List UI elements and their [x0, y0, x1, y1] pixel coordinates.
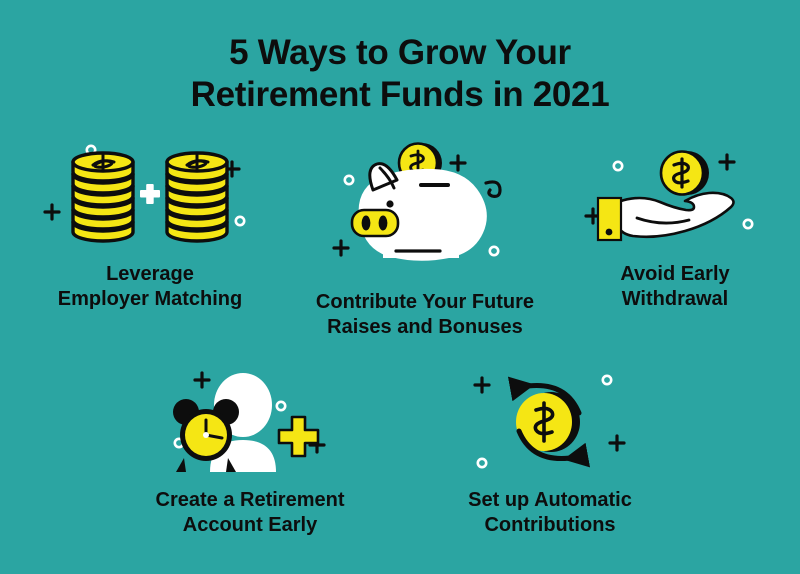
- coin-stack-right: [167, 153, 227, 241]
- open-hand-coin-svg: [580, 140, 770, 252]
- tip-card-employer-matching: Leverage Employer Matching: [16, 140, 284, 312]
- cuff-button: [606, 229, 613, 236]
- clock-center-pin: [203, 432, 209, 438]
- plus-sign-yellow: [279, 417, 318, 456]
- coin-stacks-plus-icon: [16, 140, 284, 252]
- piggy-eye: [386, 200, 393, 207]
- infographic-poster: 5 Ways to Grow Your Retirement Funds in …: [0, 0, 800, 574]
- person-clock-plus-icon: [100, 368, 400, 478]
- title-line-1: 5 Ways to Grow Your: [0, 32, 800, 74]
- snout: [352, 210, 398, 236]
- circle-mark-icon: [344, 176, 352, 184]
- page-title: 5 Ways to Grow Your Retirement Funds in …: [0, 32, 800, 116]
- recurring-coin-svg: [455, 368, 645, 478]
- circle-mark-icon: [603, 376, 611, 384]
- yellow-cuff: [598, 198, 621, 240]
- tip-label-automatic-contributions: Set up Automatic Contributions: [468, 488, 632, 538]
- plus-mark-icon: [610, 436, 624, 450]
- open-hand: [618, 193, 734, 237]
- title-line-2: Retirement Funds in 2021: [0, 74, 800, 116]
- person-clock-plus-svg: [150, 368, 350, 478]
- coin-stacks-svg: [35, 140, 265, 252]
- open-hand-coin-icon: [566, 140, 784, 252]
- tips-row-bottom: Create a Retirement Account Early: [0, 368, 800, 538]
- tips-row-top: Leverage Employer Matching: [0, 140, 800, 340]
- plus-mark-icon: [720, 155, 734, 169]
- piggy-bank-svg: [318, 138, 533, 280]
- tip-card-account-early: Create a Retirement Account Early: [100, 368, 400, 538]
- circle-mark-icon: [744, 220, 752, 228]
- plus-mark-icon: [475, 378, 489, 392]
- circle-mark-icon: [614, 162, 622, 170]
- piggy-bank-body: [352, 164, 500, 261]
- tip-label-raises-bonuses: Contribute Your Future Raises and Bonuse…: [316, 290, 534, 340]
- plus-mark-icon: [334, 241, 348, 255]
- tip-label-account-early: Create a Retirement Account Early: [156, 488, 345, 538]
- circle-mark-icon: [489, 247, 497, 255]
- plus-sign-white: [140, 184, 160, 204]
- nostril: [378, 216, 387, 231]
- plus-mark-icon: [451, 156, 465, 170]
- circle-mark-icon: [478, 459, 486, 467]
- tip-card-early-withdrawal: Avoid Early Withdrawal: [566, 140, 784, 312]
- curly-tail: [486, 182, 500, 196]
- circle-mark-icon: [236, 217, 244, 225]
- tip-label-early-withdrawal: Avoid Early Withdrawal: [620, 262, 729, 312]
- tip-label-employer-matching: Leverage Employer Matching: [58, 262, 242, 312]
- coin-above-palm: [661, 151, 709, 195]
- recurring-coin-icon: [400, 368, 700, 478]
- tip-card-automatic-contributions: Set up Automatic Contributions: [400, 368, 700, 538]
- circle-mark-icon: [277, 402, 285, 410]
- plus-mark-icon: [45, 205, 59, 219]
- tip-card-raises-bonuses: Contribute Your Future Raises and Bonuse…: [284, 140, 566, 340]
- clock-foot-left: [176, 458, 186, 472]
- piggy-bank-icon: [284, 140, 566, 280]
- coin-stack-left: [73, 153, 133, 241]
- plus-mark-icon: [195, 373, 209, 387]
- nostril: [361, 216, 370, 231]
- alarm-clock: [173, 399, 239, 472]
